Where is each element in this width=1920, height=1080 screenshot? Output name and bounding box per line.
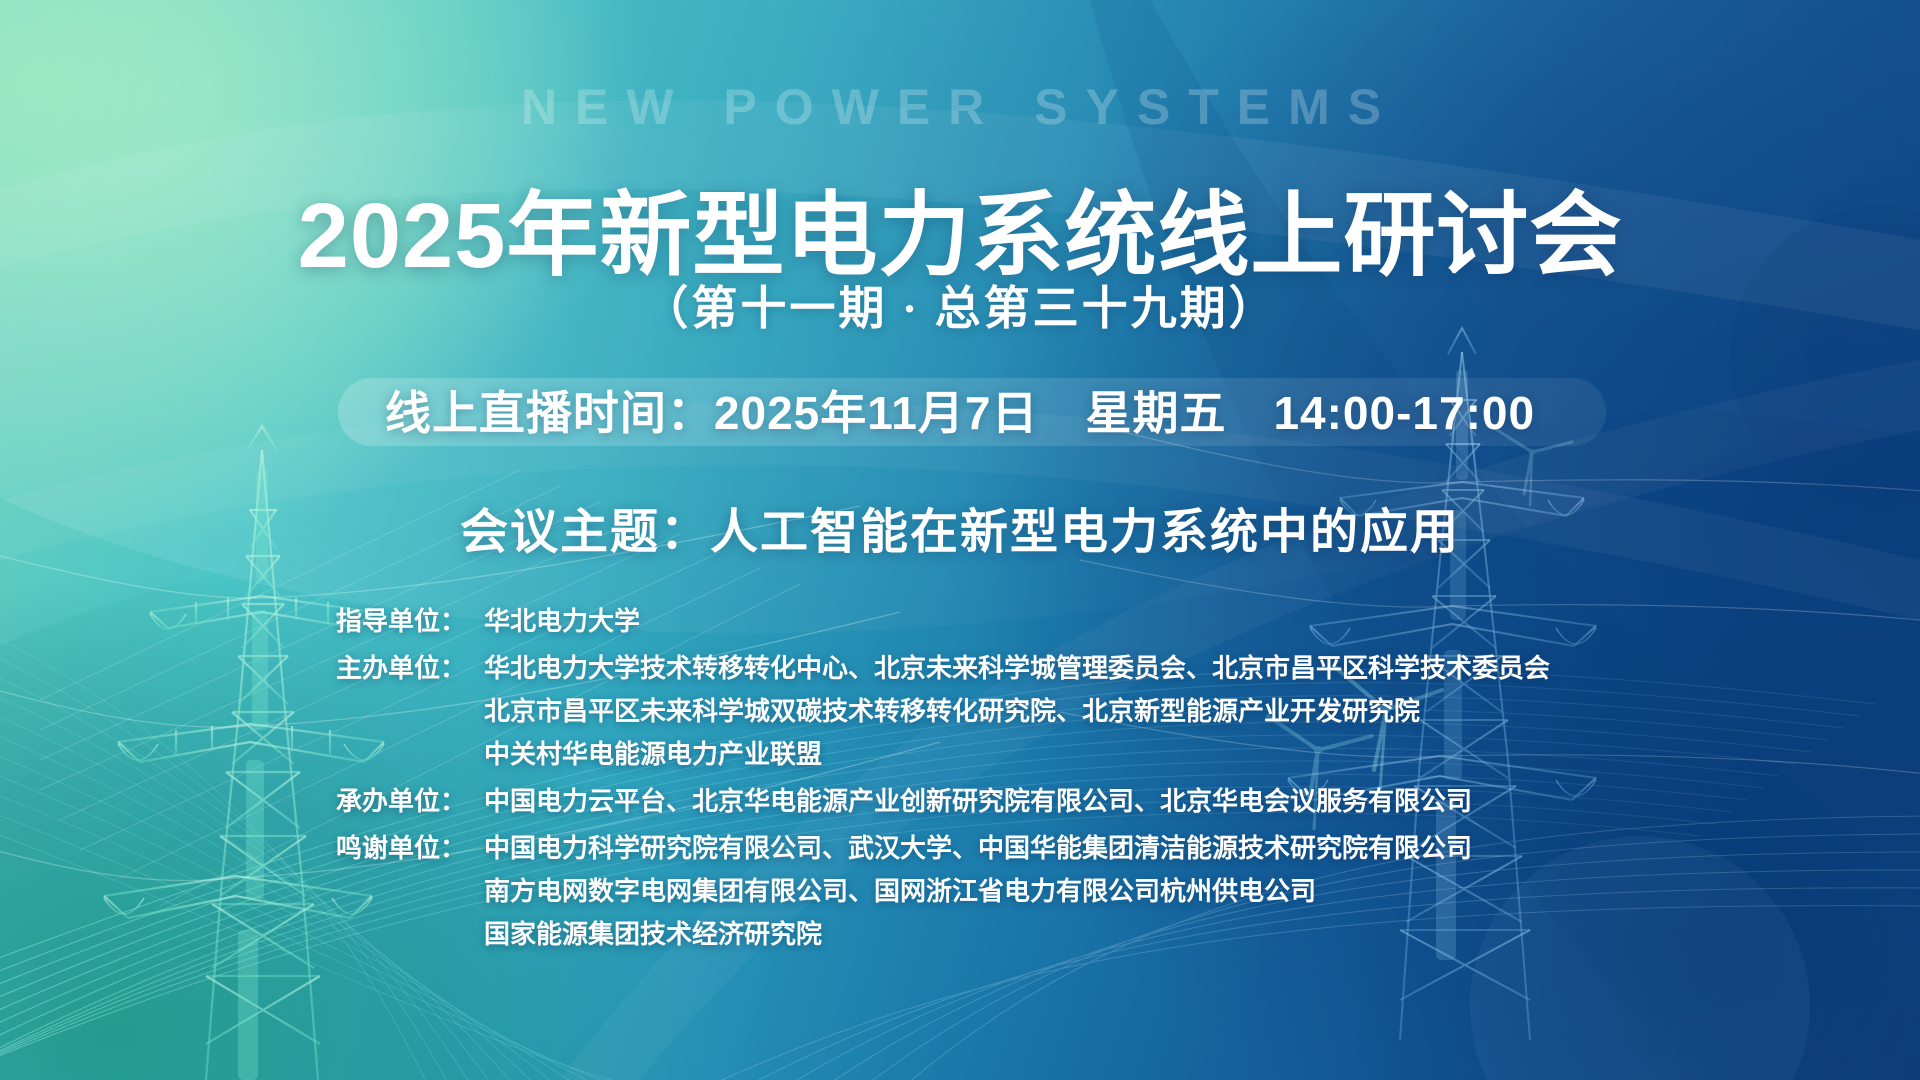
org-row-organizer: 承办单位： 中国电力云平台、北京华电能源产业创新研究院有限公司、北京华电会议服务… <box>336 780 1636 823</box>
org-line: 北京市昌平区未来科学城双碳技术转移转化研究院、北京新型能源产业开发研究院 <box>484 690 1636 733</box>
conference-theme: 会议主题：人工智能在新型电力系统中的应用 <box>0 492 1920 562</box>
org-line: 中国电力科学研究院有限公司、武汉大学、中国华能集团清洁能源技术研究院有限公司 <box>484 827 1636 870</box>
org-body-host: 华北电力大学技术转移转化中心、北京未来科学城管理委员会、北京市昌平区科学技术委员… <box>484 647 1636 776</box>
org-label-acknowledgement: 鸣谢单位： <box>336 827 484 870</box>
org-row-acknowledgement: 鸣谢单位： 中国电力科学研究院有限公司、武汉大学、中国华能集团清洁能源技术研究院… <box>336 827 1636 956</box>
org-label-guidance: 指导单位： <box>336 600 484 643</box>
org-label-host: 主办单位： <box>336 647 484 690</box>
organizations-block: 指导单位： 华北电力大学 主办单位： 华北电力大学技术转移转化中心、北京未来科学… <box>336 600 1636 960</box>
org-line: 中关村华电能源电力产业联盟 <box>484 733 1636 776</box>
watermark-text: NEW POWER SYSTEMS <box>0 78 1920 136</box>
org-line: 华北电力大学技术转移转化中心、北京未来科学城管理委员会、北京市昌平区科学技术委员… <box>484 647 1636 690</box>
org-row-guidance: 指导单位： 华北电力大学 <box>336 600 1636 643</box>
poster-content: NEW POWER SYSTEMS 2025年新型电力系统线上研讨会 （第十一期… <box>0 0 1920 1080</box>
poster-canvas: NEW POWER SYSTEMS 2025年新型电力系统线上研讨会 （第十一期… <box>0 0 1920 1080</box>
subtitle-episode: （第十一期 · 总第三十九期） <box>0 272 1920 338</box>
org-body-guidance: 华北电力大学 <box>484 600 1636 643</box>
org-label-organizer: 承办单位： <box>336 780 484 823</box>
page-title: 2025年新型电力系统线上研讨会 <box>0 190 1920 282</box>
org-row-host: 主办单位： 华北电力大学技术转移转化中心、北京未来科学城管理委员会、北京市昌平区… <box>336 647 1636 776</box>
org-body-organizer: 中国电力云平台、北京华电能源产业创新研究院有限公司、北京华电会议服务有限公司 <box>484 780 1636 823</box>
org-line: 国家能源集团技术经济研究院 <box>484 913 1636 956</box>
org-line: 南方电网数字电网集团有限公司、国网浙江省电力有限公司杭州供电公司 <box>484 870 1636 913</box>
org-line: 华北电力大学 <box>484 600 1636 643</box>
live-time-text: 线上直播时间：2025年11月7日 星期五 14:00-17:00 <box>0 382 1920 444</box>
org-body-acknowledgement: 中国电力科学研究院有限公司、武汉大学、中国华能集团清洁能源技术研究院有限公司 南… <box>484 827 1636 956</box>
org-line: 中国电力云平台、北京华电能源产业创新研究院有限公司、北京华电会议服务有限公司 <box>484 780 1636 823</box>
